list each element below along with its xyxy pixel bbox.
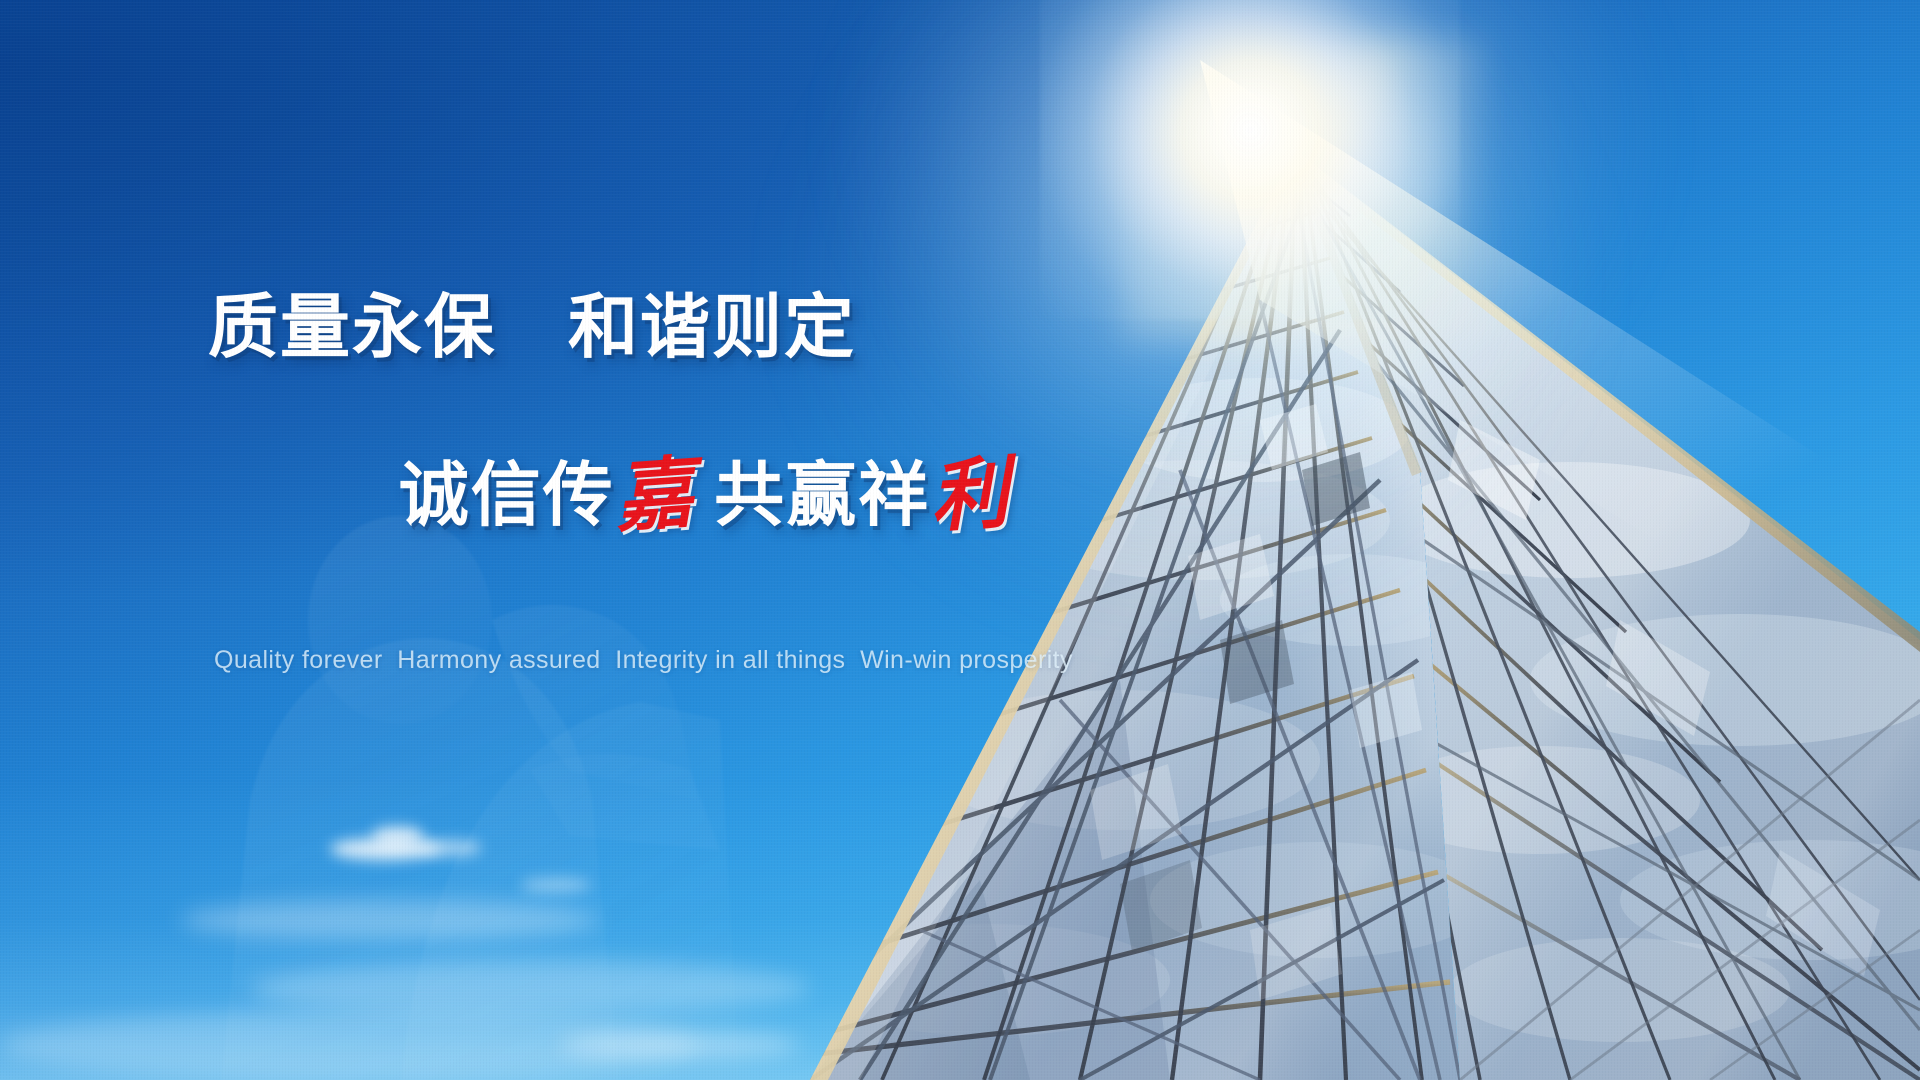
banner-stage: 质量永保 和谐则定 诚信传嘉 共赢祥利 Quality forever Harm… (0, 0, 1920, 1080)
banner-copy-block: 质量永保 和谐则定 诚信传嘉 共赢祥利 Quality forever Harm… (208, 292, 1028, 675)
headline-accent-character-jia: 嘉 (612, 454, 695, 537)
cloud-small-2 (372, 826, 424, 846)
headline-line-2-segment-2: 共赢祥 (693, 456, 930, 534)
cloud-wisp-1 (180, 900, 600, 940)
headline-accent-character-li: 利 (928, 454, 1011, 537)
sun-flare-icon (1040, 0, 1460, 320)
banner-subtitle: Quality forever Harmony assured Integrit… (214, 646, 1028, 675)
cloud-small-3 (420, 840, 482, 856)
headline-line-2-segment-1: 诚信传 (399, 456, 615, 534)
headline-line-1: 质量永保 和谐则定 (208, 292, 1028, 362)
headline-line-2: 诚信传嘉 共赢祥利 (270, 384, 1028, 602)
